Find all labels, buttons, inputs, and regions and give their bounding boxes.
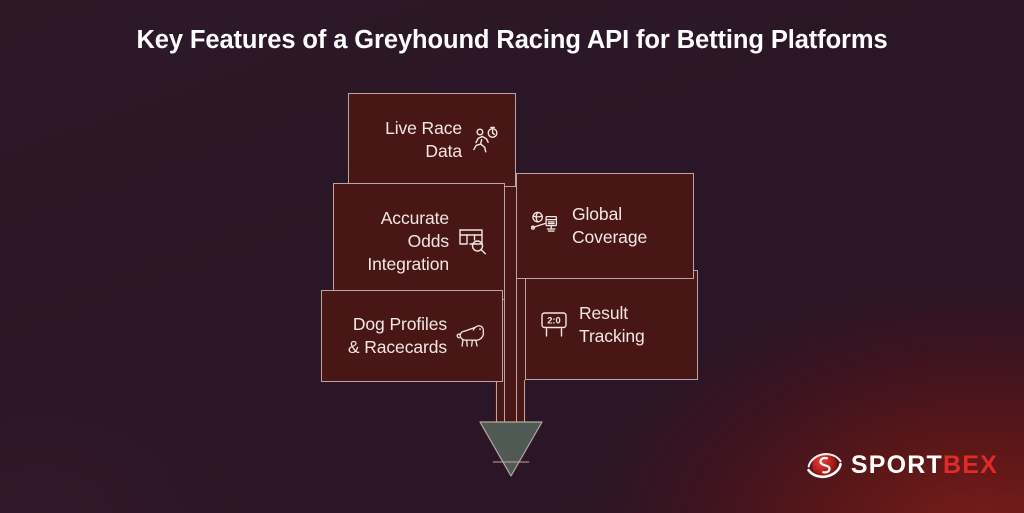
feature-card-label: Global Coverage: [572, 203, 647, 250]
globe-server-icon: [531, 211, 563, 241]
greyhound-dog-icon: [456, 322, 488, 350]
feature-card-label: Result Tracking: [579, 302, 645, 349]
feature-card-label: Live Race Data: [385, 117, 462, 164]
logo-text-primary: SPORT: [851, 451, 943, 479]
feature-card-live-race-data[interactable]: Live Race Data: [348, 93, 516, 187]
feature-card-global-coverage[interactable]: Global Coverage: [516, 173, 694, 279]
feature-card-label: Accurate Odds Integration: [367, 207, 449, 277]
scoreboard-value: 2:0: [547, 315, 561, 326]
logo-text-accent: BEX: [943, 451, 998, 479]
sportbex-wordmark: SPORTBEX: [851, 453, 998, 478]
sportbex-logo[interactable]: SPORTBEX: [807, 448, 998, 483]
runner-stopwatch-icon: [471, 125, 501, 155]
features-diagram: Live Race Data: [0, 0, 1024, 513]
sportbex-orbit-icon: [807, 448, 842, 483]
connector-stem-2: [504, 300, 505, 426]
odds-table-search-icon: [458, 226, 490, 256]
feature-card-dog-profiles-racecards[interactable]: Dog Profiles & Racecards: [321, 290, 503, 382]
funnel-arrow: [478, 420, 544, 478]
feature-card-accurate-odds-integration[interactable]: Accurate Odds Integration: [333, 183, 505, 300]
feature-card-result-tracking[interactable]: 2:0 Result Tracking: [525, 270, 698, 380]
infographic-canvas: Key Features of a Greyhound Racing API f…: [0, 0, 1024, 513]
scoreboard-icon: 2:0: [540, 311, 570, 339]
connector-stem-3: [516, 279, 517, 426]
feature-card-label: Dog Profiles & Racecards: [348, 313, 447, 360]
